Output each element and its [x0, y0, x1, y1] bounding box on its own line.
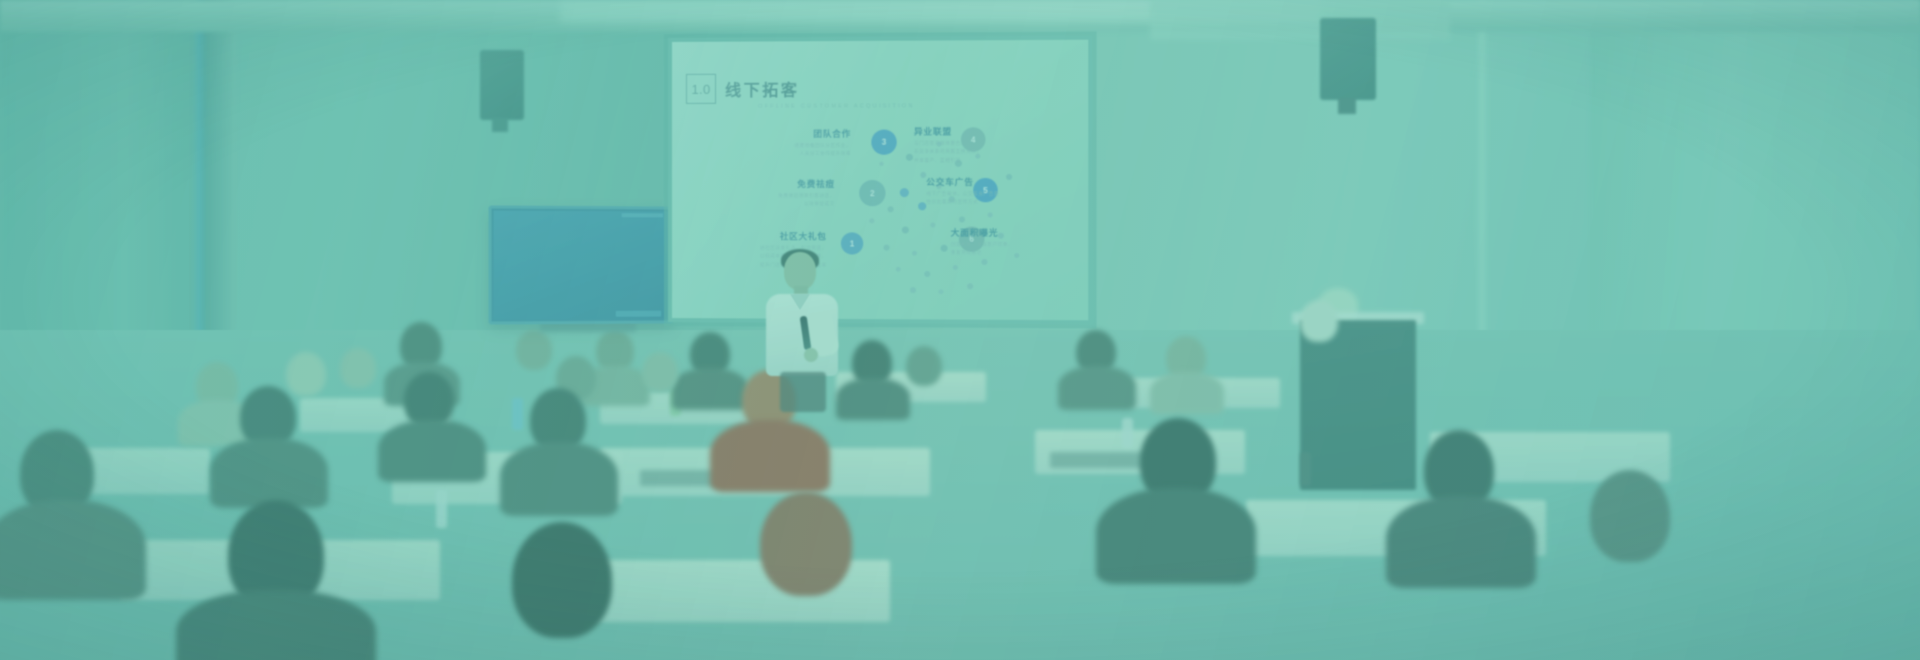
- loudspeaker-icon: [480, 50, 524, 120]
- diagram-label-3: 团队合作 组建地推团队分区作业， 人员分工协作提升效率: [738, 128, 851, 159]
- monitor-icon: [489, 205, 674, 324]
- bubble-cluster-diagram: 1 2 3 4 5 6 社区大礼包 进社区派发礼品、引流到店， 以低成本获取精准…: [672, 125, 1088, 318]
- attendee-head: [516, 330, 552, 370]
- presenter-head: [784, 252, 816, 290]
- cluster-dot: [959, 216, 965, 222]
- ceiling-soffit: [1150, 0, 1450, 40]
- loudspeaker-icon: [1320, 18, 1376, 100]
- attendee-head: [760, 492, 852, 596]
- attendee-head: [340, 348, 376, 388]
- attendee-body: [378, 420, 486, 482]
- water-bottle: [512, 398, 523, 430]
- slide-header: 1.0 线下拓客: [686, 73, 800, 104]
- attendee-head: [1300, 300, 1338, 342]
- cluster-dot: [918, 202, 926, 210]
- cluster-dot: [988, 212, 993, 217]
- attendee-head: [642, 352, 678, 392]
- attendee-body: [1058, 366, 1136, 410]
- attendee-body: [1096, 488, 1256, 584]
- water-bottle: [1122, 418, 1133, 448]
- cluster-dot: [879, 162, 883, 166]
- cluster-dot: [896, 267, 901, 272]
- presenter-hand: [804, 348, 818, 362]
- attendee-body: [1150, 372, 1224, 414]
- slide-number-badge: 1.0: [686, 74, 716, 104]
- attendee-body: [500, 442, 618, 516]
- bubble-2: 2: [859, 180, 885, 206]
- cabinet: [1300, 320, 1416, 490]
- diagram-label-4: 异业联盟 与门店客户群体重合、 非竞争关系的商家互换资源， 共享客户、互相引流: [914, 125, 1029, 165]
- cluster-dot: [953, 265, 958, 270]
- cluster-dot: [869, 218, 874, 223]
- photo-layer: 1.0 线下拓客 OFFLINE CUSTOMER ACQUISITION: [0, 0, 1920, 660]
- cluster-dot: [884, 245, 890, 251]
- attendee-body: [710, 420, 830, 492]
- attendee-head: [286, 352, 326, 396]
- attendee-body: [1386, 496, 1536, 588]
- cluster-dot: [910, 287, 916, 293]
- cluster-dot: [900, 188, 909, 197]
- slide-title: 线下拓客: [725, 76, 799, 100]
- bubble-3: 3: [871, 130, 896, 155]
- cluster-dot: [924, 271, 930, 277]
- cluster-dot: [967, 283, 973, 289]
- diagram-label-6: 大面积曝光 创造机会、增加客户印象、 重复持续触达: [951, 227, 1066, 259]
- attendee-body: [0, 500, 146, 600]
- presenter: [760, 252, 846, 392]
- slide-surface: 1.0 线下拓客 OFFLINE CUSTOMER ACQUISITION: [672, 40, 1088, 321]
- cluster-dot: [981, 259, 987, 265]
- water-bottle: [436, 490, 447, 528]
- cluster-dot: [912, 251, 917, 256]
- projection-screen-icon: 1.0 线下拓客 OFFLINE CUSTOMER ACQUISITION: [668, 36, 1092, 325]
- cluster-dot: [938, 289, 943, 294]
- diagram-label-5: 公交车广告 线下广告载体，公交车身广告是 性价比最高的宣传方式: [926, 176, 1041, 207]
- seminar-photo-banner: 1.0 线下拓客 OFFLINE CUSTOMER ACQUISITION: [0, 0, 1920, 660]
- water-bottle: [1300, 452, 1311, 486]
- presenter-legs: [780, 372, 826, 412]
- cluster-dot: [930, 222, 935, 227]
- slide-subtitle: OFFLINE CUSTOMER ACQUISITION: [758, 103, 915, 109]
- attendee-body: [210, 438, 328, 508]
- attendee-head: [1590, 470, 1670, 562]
- attendee-body: [176, 590, 376, 660]
- attendee-head: [512, 522, 612, 638]
- attendee-head: [906, 346, 942, 386]
- cluster-dot: [906, 154, 913, 161]
- cluster-dot: [888, 206, 894, 212]
- cluster-dot: [941, 245, 948, 252]
- attendee-body: [836, 378, 910, 420]
- diagram-label-2: 免费祛痘 免费体验项目引客进店， 以效果促成交: [722, 178, 835, 209]
- attendee-body: [672, 368, 748, 410]
- cluster-dot: [902, 226, 909, 233]
